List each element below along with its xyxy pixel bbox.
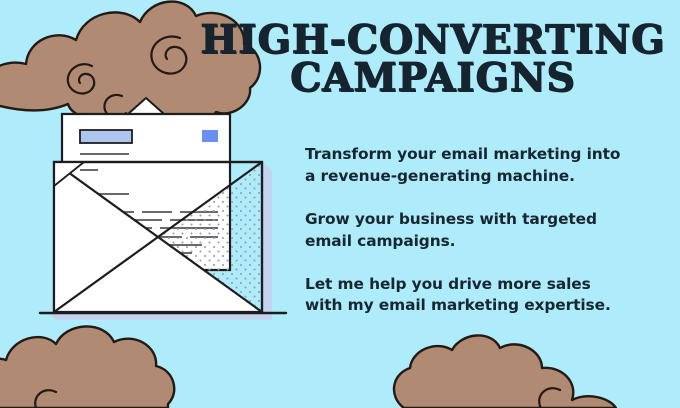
copy-paragraph-2: Grow your business with targeted email c…: [305, 209, 673, 253]
body-copy: Transform your email marketing into a re…: [305, 144, 673, 317]
cloud-bottom-right: [394, 335, 616, 408]
letter-header-bar: [80, 130, 132, 143]
page-title: HIGH-CONVERTING CAMPAIGNS: [186, 22, 680, 98]
poster-canvas: HIGH-CONVERTING CAMPAIGNS Transform your…: [0, 0, 680, 408]
letter-stamp: [202, 130, 218, 142]
copy-paragraph-3: Let me help you drive more sales with my…: [305, 274, 673, 318]
copy-paragraph-1: Transform your email marketing into a re…: [305, 144, 673, 188]
envelope-illustration: [32, 92, 294, 340]
